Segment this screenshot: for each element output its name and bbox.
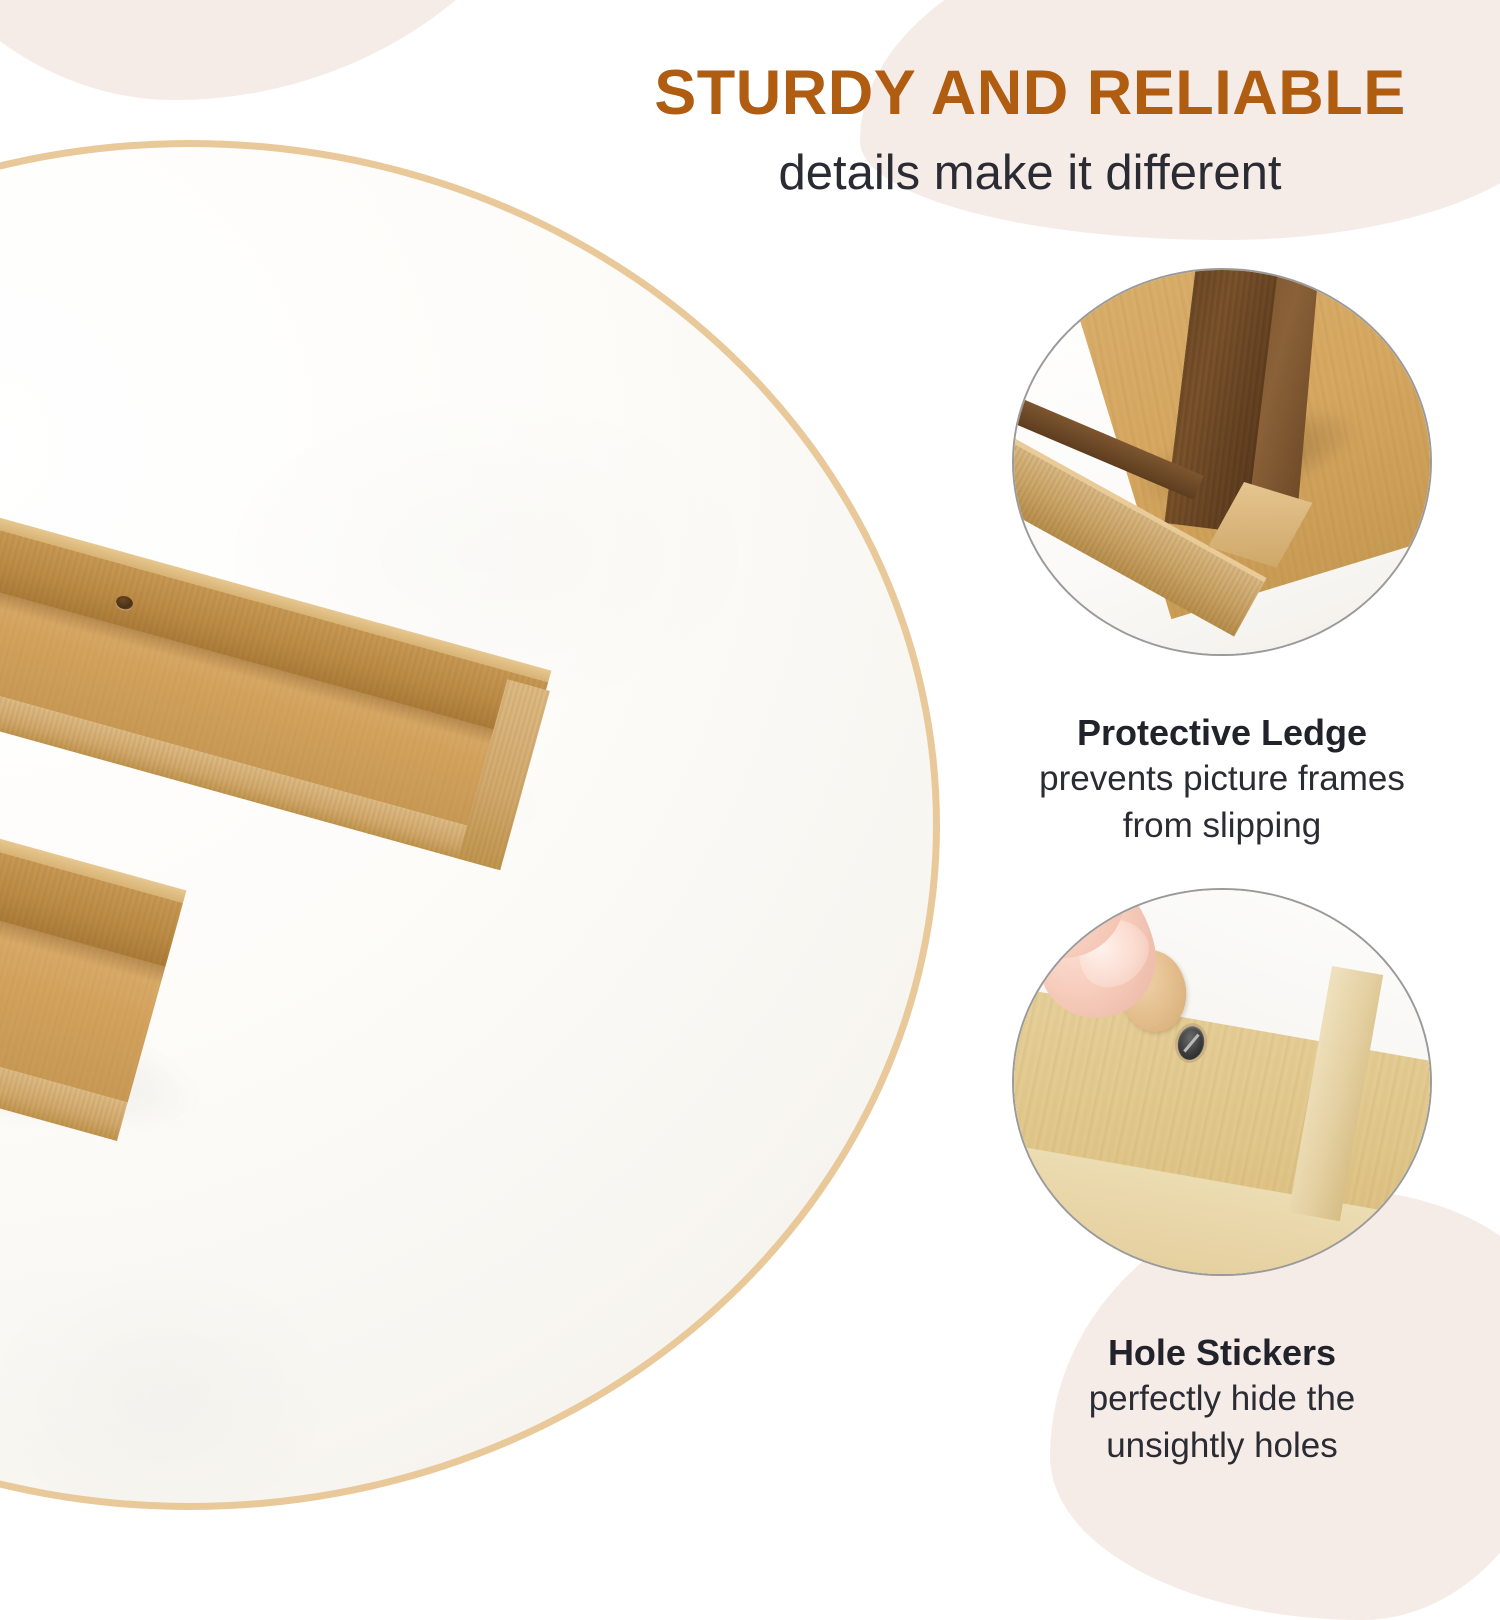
protective-ledge-detail-photo [1012,268,1432,656]
hole-stickers-body-line-2: unsightly holes [962,1425,1482,1468]
header-block: STURDY AND RELIABLE details make it diff… [600,60,1460,200]
protective-ledge-body-line-1: prevents picture frames [962,758,1482,801]
infographic-canvas: STURDY AND RELIABLE details make it diff… [0,0,1500,1500]
hero-product-photo-circle [0,140,940,1510]
blush-blob-top-left-decoration [0,0,600,100]
protective-ledge-body-line-2: from slipping [962,805,1482,848]
protective-ledge-photo-content [1012,268,1432,656]
protective-ledge-caption: Protective Ledge prevents picture frames… [962,712,1482,848]
hole-stickers-title: Hole Stickers [962,1332,1482,1374]
hole-stickers-caption: Hole Stickers perfectly hide the unsight… [962,1332,1482,1468]
page-subtitle: details make it different [600,148,1460,199]
protective-ledge-title: Protective Ledge [962,712,1482,754]
hero-photo-content [0,147,933,1503]
hole-stickers-body-line-1: perfectly hide the [962,1378,1482,1421]
hole-stickers-detail-photo [1012,888,1432,1276]
hole-stickers-photo-content [1012,888,1432,1276]
page-title: STURDY AND RELIABLE [600,60,1460,126]
